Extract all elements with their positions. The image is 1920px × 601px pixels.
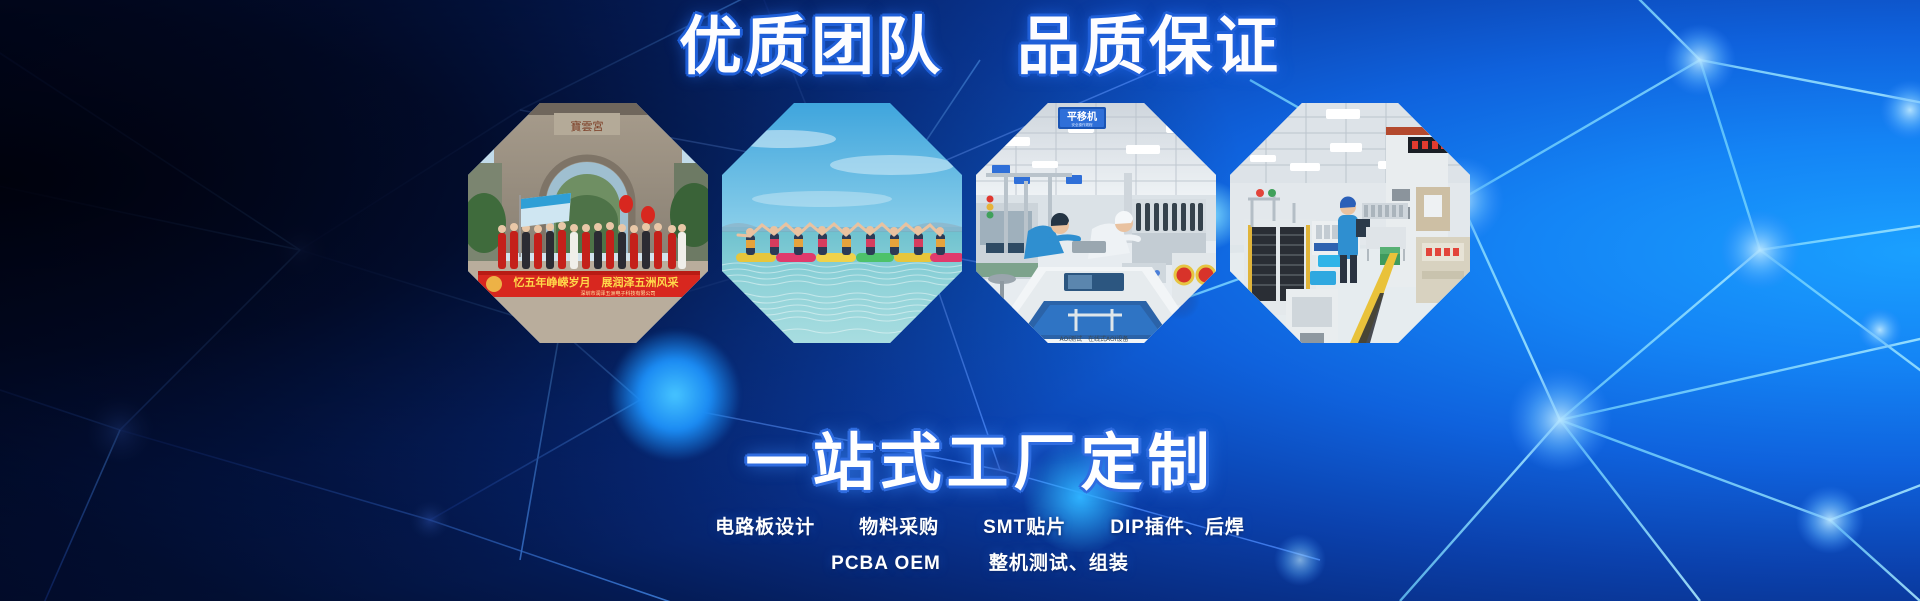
main-slogan: 一站式工厂定制 [745, 432, 1214, 495]
service-item-dip-soldering[interactable]: DIP插件、后焊 [1110, 512, 1245, 539]
headline-word-2: 品质保证 [1017, 16, 1281, 79]
service-row-1: 电路板设计 物料采购 SMT贴片 DIP插件、后焊 [40, 512, 1920, 539]
service-row-2: PCBA OEM 整机测试、组装 [40, 548, 1920, 575]
headline-row: 优质团队 品质保证 [0, 16, 1920, 79]
svg-text:平移机: 平移机 [1067, 110, 1097, 123]
service-item-material-sourcing[interactable]: 物料采购 [859, 512, 939, 539]
main-slogan-wrap: 一站式工厂定制 [0, 432, 1920, 495]
svg-text:AOI测试 在线式AOI设备: AOI测试 在线式AOI设备 [1060, 335, 1129, 343]
photo-smt-production-line-photo[interactable]: 平移机 安全操作规程 [976, 103, 1216, 343]
photo-cleanroom-testing-workshop-photo[interactable] [1230, 103, 1470, 343]
svg-text:安全操作规程: 安全操作规程 [1072, 122, 1093, 127]
headline-word-1: 优质团队 [679, 16, 943, 79]
photo-team-outing-group-photo[interactable]: 寶雲宮 [468, 103, 708, 343]
service-item-pcba-oem[interactable]: PCBA OEM [831, 553, 941, 575]
svg-text:寶雲宮: 寶雲宮 [571, 119, 604, 133]
svg-text:忆五年峥嵘岁月 展润泽五洲风采: 忆五年峥嵘岁月 展润泽五洲风采 [514, 275, 680, 289]
photo-team-kayaking-photo[interactable] [722, 103, 962, 343]
service-item-pcb-design[interactable]: 电路板设计 [715, 512, 815, 539]
svg-text:深圳市润泽五洲电子科技有限公司: 深圳市润泽五洲电子科技有限公司 [580, 290, 655, 297]
photo-strip: 寶雲宮 [0, 103, 1920, 343]
service-item-assembly-testing[interactable]: 整机测试、组装 [989, 548, 1129, 575]
service-list: 电路板设计 物料采购 SMT贴片 DIP插件、后焊 PCBA OEM 整机测试、… [0, 512, 1920, 575]
service-item-smt[interactable]: SMT贴片 [983, 512, 1066, 539]
promo-banner: 优质团队 品质保证 [0, 0, 1920, 601]
